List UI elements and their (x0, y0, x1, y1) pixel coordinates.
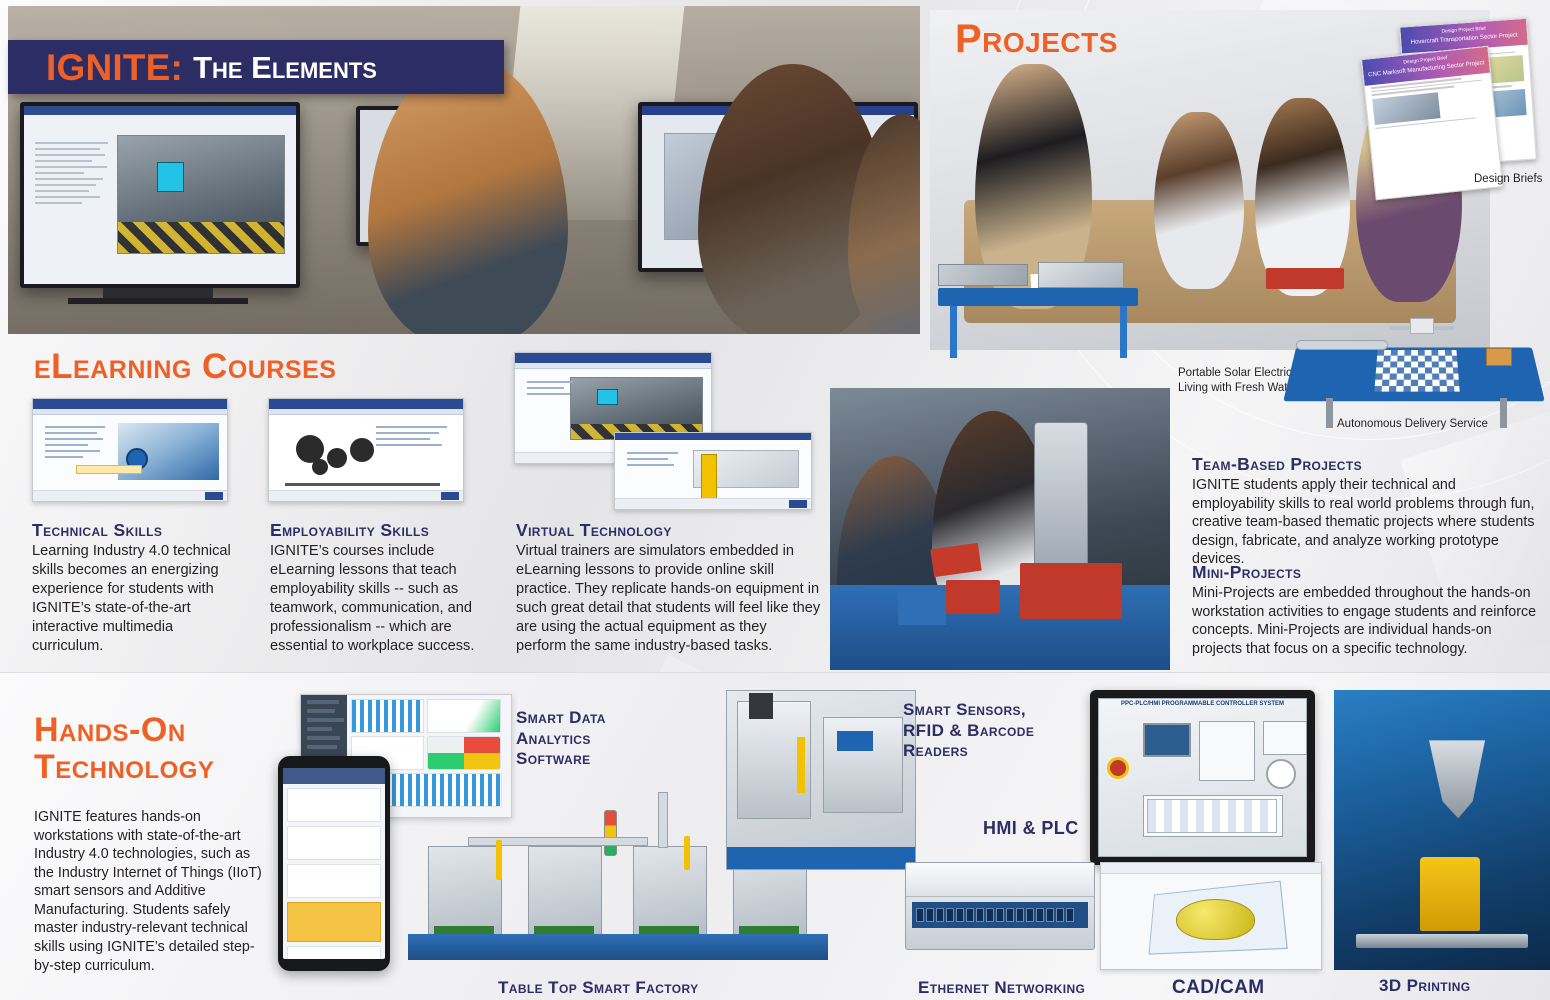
card-heading-technical-skills: Technical Skills (32, 521, 162, 540)
project-person-2 (1154, 112, 1244, 289)
team-projects-heading: Team-Based Projects (1192, 455, 1362, 474)
mini-projects-body: Mini-Projects are embedded throughout th… (1192, 584, 1540, 658)
workstation-photo (830, 388, 1170, 670)
card-body-technical-skills: Learning Industry 4.0 technical skills b… (32, 542, 237, 656)
plc-trainer-equipment: PPC-PLC/HMI PROGRAMMABLE CONTROLLER SYST… (1090, 690, 1315, 865)
factory-stack-light (604, 810, 617, 856)
factory-station-1 (428, 846, 502, 938)
label-cadcam: CAD/CAM (1172, 976, 1265, 999)
dashboard-tile-bars (351, 699, 424, 733)
elearning-heading: eLearning Courses (34, 349, 336, 386)
printer-nozzle (1429, 740, 1485, 818)
ethernet-switch-equipment (905, 862, 1095, 950)
design-briefs-stack: Design Project Brief Hovercraft Transpor… (1368, 18, 1543, 178)
plc-selector-dial[interactable] (1266, 759, 1296, 789)
factory-yellow-cable-2 (684, 836, 690, 870)
smart-sensor-rfid-equipment (726, 690, 916, 870)
solar-caption: Portable Solar Electric Living with Fres… (1178, 366, 1298, 396)
3d-printer-photo (1334, 690, 1550, 970)
factory-station-3 (633, 846, 707, 938)
dashboard-tile-gauge (427, 736, 500, 770)
ethernet-port-row (912, 902, 1088, 928)
workstation-red-module (1020, 563, 1122, 619)
mobile-app-device[interactable] (278, 756, 390, 971)
factory-station-2 (528, 846, 602, 938)
handson-heading-line2: Technology (34, 749, 214, 786)
handson-heading: Hands-On Technology (34, 712, 214, 785)
course-thumbnail-employability[interactable] (268, 398, 464, 502)
handson-body: IGNITE features hands-on workstations wi… (34, 808, 266, 975)
course-thumbnail-virtual-secondary[interactable] (614, 432, 812, 510)
label-ethernet-networking: Ethernet Networking (918, 978, 1085, 999)
mini-projects-heading: Mini-Projects (1192, 563, 1301, 582)
mobile-app-screen (283, 768, 385, 959)
poster-page: IGNITE: The Elements Projects Design Pro… (0, 0, 1550, 1000)
plc-hmi-screen[interactable] (1143, 723, 1191, 757)
label-smart-data-analytics: Smart Data Analytics Software (516, 708, 646, 770)
factory-gantry (468, 837, 648, 846)
delivery-caption: Autonomous Delivery Service (1337, 418, 1488, 430)
printed-object (1420, 857, 1480, 931)
factory-arm-vertical (658, 792, 668, 848)
title-brand: IGNITE: (46, 49, 183, 86)
projects-heading: Projects (955, 18, 1118, 60)
monitor-left (20, 102, 300, 288)
delivery-project-equipment (1290, 290, 1540, 432)
team-projects-body: IGNITE students apply their technical an… (1192, 476, 1540, 569)
card-heading-virtual-technology: Virtual Technology (516, 521, 672, 540)
course-thumbnail-technical[interactable] (32, 398, 228, 502)
label-hmi-plc: HMI & PLC (983, 818, 1079, 840)
solar-project-equipment (930, 258, 1155, 366)
title-subtitle: The Elements (193, 52, 377, 83)
label-table-top-smart-factory: Table Top Smart Factory (498, 978, 699, 999)
label-3d-printing: 3D Printing (1379, 976, 1471, 997)
cadcam-software-screenshot[interactable] (1100, 862, 1322, 970)
workstation-red-module-2 (946, 580, 1000, 614)
card-body-virtual-technology: Virtual trainers are simulators embedded… (516, 542, 821, 656)
factory-yellow-cable-1 (496, 840, 502, 880)
handson-heading-line1: Hands-On (34, 712, 214, 749)
label-smart-sensors-rfid: Smart Sensors, RFID & Barcode Readers (903, 700, 1063, 762)
design-briefs-caption: Design Briefs (1474, 172, 1542, 186)
project-person-3 (1255, 98, 1350, 295)
printer-bed (1356, 934, 1529, 948)
title-banner: IGNITE: The Elements (8, 40, 504, 94)
plc-estop-button[interactable] (1107, 757, 1129, 779)
card-body-employability-skills: IGNITE’s courses include eLearning lesso… (270, 542, 482, 656)
card-heading-employability-skills: Employability Skills (270, 521, 429, 540)
plc-panel-title: PPC-PLC/HMI PROGRAMMABLE CONTROLLER SYST… (1099, 699, 1306, 707)
dashboard-tile-line (427, 699, 500, 733)
